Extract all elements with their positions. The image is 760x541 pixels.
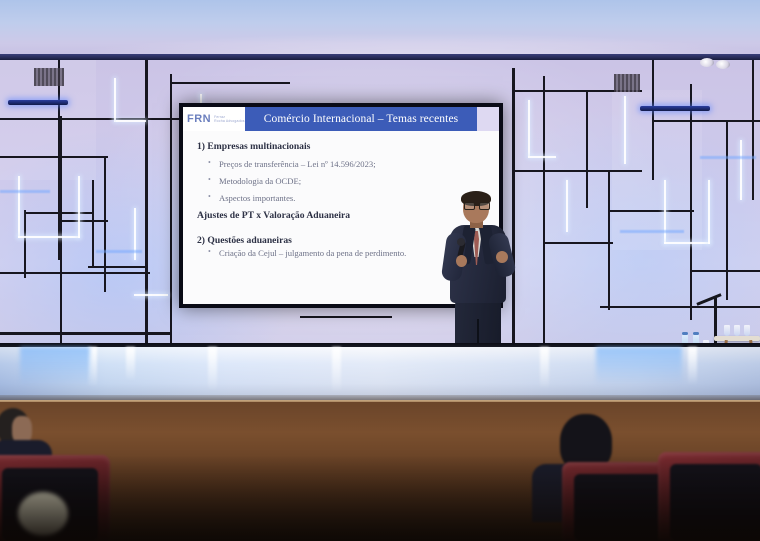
water-glass — [724, 325, 730, 336]
floor-reflection — [208, 347, 217, 391]
wall-line-vertical — [752, 60, 754, 200]
wall-line-vertical — [145, 60, 148, 348]
slide-bullet: Preços de transferência – Lei nº 14.596/… — [219, 159, 491, 169]
floor-reflection — [332, 347, 341, 393]
wall-line-horizontal — [0, 156, 108, 158]
floor-reflection — [540, 347, 549, 389]
slide-title-cap — [477, 107, 499, 131]
ceiling-vent — [34, 68, 64, 86]
wall-line-vertical — [92, 180, 94, 268]
wall-light-strip — [740, 140, 742, 200]
slide-title: Comércio Internacional – Temas recentes — [264, 113, 458, 125]
floor-reflection — [126, 347, 135, 381]
logo-subtext: Ferraz Rocha Advogados — [214, 115, 245, 123]
wall-line-horizontal — [300, 316, 392, 318]
spotlight-head — [700, 58, 714, 67]
wall-light-strip — [664, 242, 710, 244]
slide-header: FRN Ferraz Rocha Advogados Comércio Inte… — [183, 107, 499, 131]
wall-light-strip — [114, 78, 116, 122]
slide-logo: FRN Ferraz Rocha Advogados — [183, 107, 245, 131]
wall-line-horizontal — [88, 266, 148, 268]
wall-blue-accent — [0, 190, 50, 193]
ceiling-vent — [614, 74, 640, 92]
wall-line-vertical — [543, 76, 545, 348]
wall-line-horizontal — [0, 118, 180, 120]
floor-reflection-blue — [596, 347, 682, 385]
water-bottle-cap — [693, 332, 699, 335]
water-glass — [734, 325, 740, 336]
wall-line-vertical — [608, 170, 610, 310]
foreground-vignette — [0, 455, 760, 541]
presentation-photo: FRN Ferraz Rocha Advogados Comércio Inte… — [0, 0, 760, 541]
slide-title-bar: Comércio Internacional – Temas recentes — [245, 107, 477, 131]
wall-blue-accent — [620, 230, 684, 233]
floor-reflection — [688, 347, 697, 385]
wall-line-vertical — [60, 116, 62, 350]
wall-line-horizontal — [690, 270, 760, 272]
wall-line-horizontal — [608, 210, 694, 212]
side-table-top-right — [714, 336, 760, 341]
wall-line-horizontal — [512, 170, 642, 172]
wall-blue-accent — [96, 250, 142, 253]
wall-line-vertical — [586, 90, 588, 208]
wall-line-horizontal — [0, 272, 150, 274]
speaker-glasses-right — [479, 202, 490, 210]
wall-light-strip — [528, 100, 530, 156]
speaker-glasses-left — [464, 202, 475, 210]
water-bottle-cap — [682, 332, 688, 335]
wall-line-vertical — [726, 120, 728, 300]
wall-light-strip — [18, 236, 80, 238]
speaker-hand-left — [456, 255, 467, 267]
wall-light-strip — [78, 176, 80, 238]
wall-light-strip — [566, 180, 568, 232]
wall-light-strip — [624, 96, 626, 164]
wall-line-horizontal — [0, 332, 170, 335]
logo-wordmark: FRN — [187, 113, 211, 125]
wall-line-horizontal — [24, 212, 94, 214]
stage-light-bar — [8, 100, 68, 105]
spotlight-head — [716, 60, 730, 69]
slide-bullet: Metodologia da OCDE; — [219, 176, 491, 186]
wall-line-horizontal — [652, 120, 760, 122]
speaker-hand-right — [496, 251, 508, 263]
wall-light-strip — [18, 176, 20, 238]
wall-light-strip — [664, 180, 666, 244]
wall-line-vertical — [24, 210, 26, 278]
wall-line-horizontal — [170, 82, 290, 84]
wall-line-vertical — [170, 74, 172, 356]
wall-blue-accent — [700, 156, 756, 159]
floor-reflection-blue — [20, 347, 90, 387]
wall-line-horizontal — [60, 220, 108, 222]
stage-light-bar — [640, 106, 710, 111]
microphone-head-icon — [457, 238, 465, 246]
wall-light-strip — [708, 180, 710, 244]
slide-heading: 1) Empresas multinacionais — [197, 141, 491, 152]
wall-light-strip — [134, 294, 168, 296]
wall-light-strip — [116, 120, 146, 122]
wall-light-strip — [528, 156, 556, 158]
water-glass — [744, 325, 750, 336]
wall-line-horizontal — [543, 242, 613, 244]
